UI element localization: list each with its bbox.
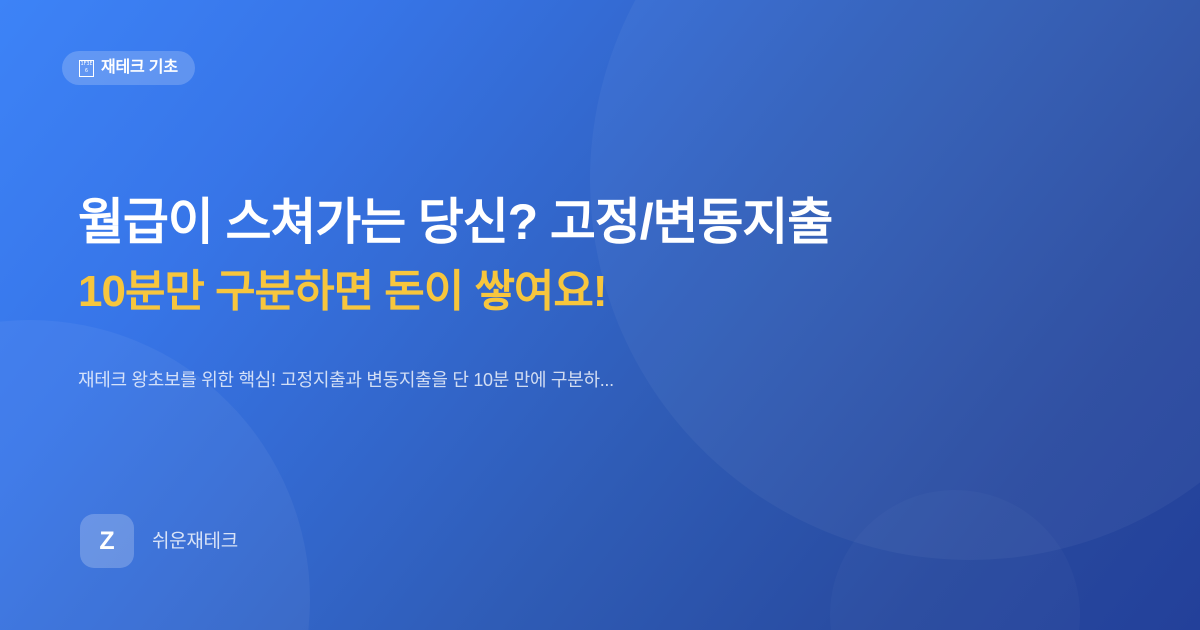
category-badge[interactable]: 1F3E6 재테크 기초 xyxy=(62,51,195,85)
decorative-circle-bottom-right xyxy=(830,490,1080,630)
category-badge-label: 재테크 기초 xyxy=(101,60,178,76)
og-share-card: 1F3E6 재테크 기초 월급이 스쳐가는 당신? 고정/변동지출 10분만 구… xyxy=(0,0,1200,630)
site-name: 쉬운재테크 xyxy=(152,532,238,551)
author-footer: Z 쉬운재테크 xyxy=(80,514,238,568)
page-title-line-2: 10분만 구분하면 돈이 쌓여요! xyxy=(78,265,1078,319)
page-description: 재테크 왕초보를 위한 핵심! 고정지출과 변동지출을 단 10분 만에 구분하… xyxy=(78,367,1078,394)
headline-block: 월급이 스쳐가는 당신? 고정/변동지출 10분만 구분하면 돈이 쌓여요! 재… xyxy=(78,192,1078,394)
page-title-line-1: 월급이 스쳐가는 당신? 고정/변동지출 xyxy=(78,192,1078,253)
tofu-box-glyph-icon: 1F3E6 xyxy=(79,60,94,77)
avatar: Z xyxy=(80,514,134,568)
